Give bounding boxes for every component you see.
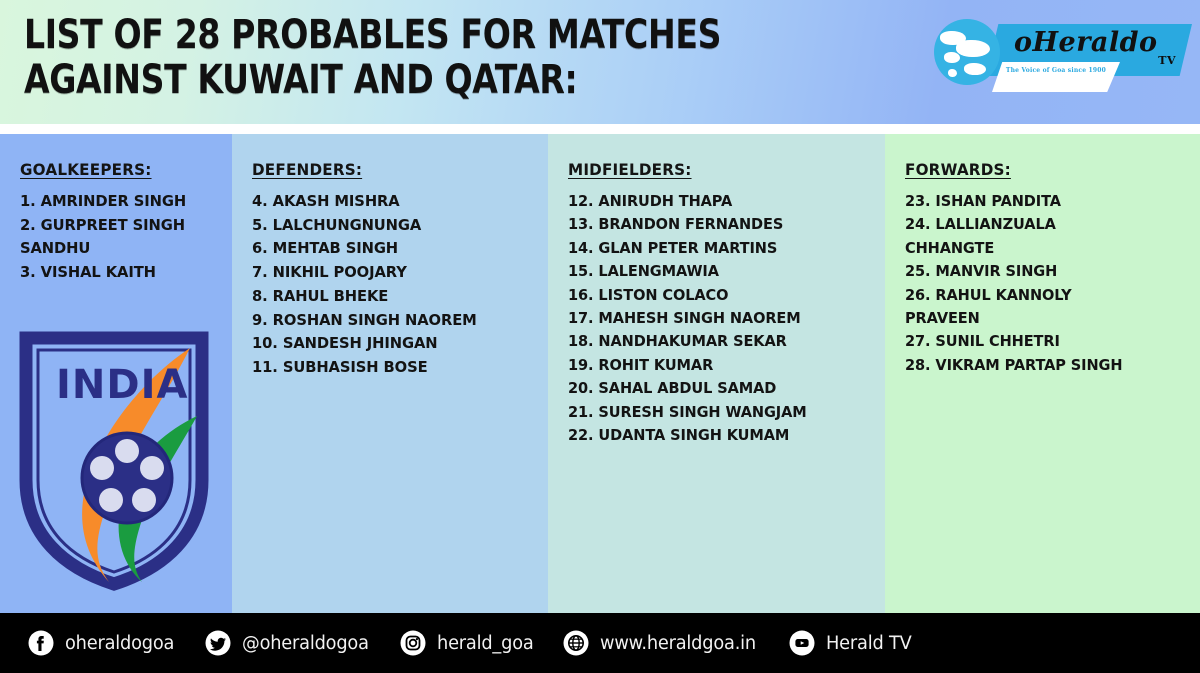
column-title-forwards: FORWARDS: (905, 160, 1170, 179)
india-football-crest: INDIA (14, 330, 214, 592)
facebook-icon[interactable] (28, 630, 54, 656)
oheraldo-tv-logo[interactable]: oHeraldo TV The Voice of Goa since 1900 (930, 12, 1192, 106)
list-item: 11. SUBHASISH BOSE (252, 356, 518, 380)
header-divider (0, 124, 1200, 134)
list-item: 7. NIKHIL POOJARY (252, 261, 518, 285)
footer-website[interactable]: www.heraldgoa.in (563, 630, 762, 656)
player-list-forwards: 23. ISHAN PANDITA 24. LALLIANZUALA CHHAN… (905, 190, 1184, 377)
list-item: SANDHU (20, 237, 206, 261)
player-list-defenders: 4. AKASH MISHRA 5. LALCHUNGNUNGA 6. MEHT… (252, 190, 532, 380)
column-title-midfielders: MIDFIELDERS: (568, 160, 854, 179)
footer-twitter[interactable]: @oheraldogoa (205, 630, 374, 656)
footer-social-bar: oheraldogoa @oheraldogoa herald_goa (0, 613, 1200, 673)
column-midfielders: MIDFIELDERS: 12. ANIRUDH THAPA 13. BRAND… (548, 134, 885, 613)
footer-twitter-label: @oheraldogoa (242, 633, 369, 654)
footer-facebook[interactable]: oheraldogoa (28, 630, 179, 656)
list-item: 28. VIKRAM PARTAP SINGH (905, 354, 1170, 377)
page-title-line-1: LIST OF 28 PROBABLES FOR MATCHES (24, 13, 834, 58)
player-list-goalkeepers: 1. AMRINDER SINGH 2. GURPREET SINGH SAND… (20, 190, 216, 285)
list-item: 27. SUNIL CHHETRI (905, 330, 1170, 353)
list-item: 15. LALENGMAWIA (568, 260, 854, 283)
list-item: 22. UDANTA SINGH KUMAM (568, 424, 854, 447)
infographic-root: LIST OF 28 PROBABLES FOR MATCHES AGAINST… (0, 0, 1200, 673)
list-item: PRAVEEN (905, 307, 1170, 330)
player-list-midfielders: 12. ANIRUDH THAPA 13. BRANDON FERNANDES … (568, 190, 869, 447)
column-title-goalkeepers: GOALKEEPERS: (20, 160, 206, 179)
instagram-icon[interactable] (400, 630, 426, 656)
column-defenders: DEFENDERS: 4. AKASH MISHRA 5. LALCHUNGNU… (232, 134, 548, 613)
page-title: LIST OF 28 PROBABLES FOR MATCHES AGAINST… (24, 13, 834, 103)
list-item: 19. ROHIT KUMAR (568, 354, 854, 377)
list-item: 8. RAHUL BHEKE (252, 285, 518, 309)
list-item: 13. BRANDON FERNANDES (568, 213, 854, 236)
logo-wordmark: oHeraldo (1014, 23, 1174, 63)
footer-youtube-label: Herald TV (826, 633, 912, 654)
list-item: 6. MEHTAB SINGH (252, 237, 518, 261)
footer-facebook-label: oheraldogoa (65, 633, 174, 654)
footer-instagram[interactable]: herald_goa (400, 630, 538, 656)
list-item: 4. AKASH MISHRA (252, 190, 518, 214)
column-goalkeepers: GOALKEEPERS: 1. AMRINDER SINGH 2. GURPRE… (0, 134, 232, 613)
page-title-line-2: AGAINST KUWAIT AND QATAR: (24, 58, 834, 103)
list-item: 10. SANDESH JHINGAN (252, 332, 518, 356)
crest-text: INDIA (56, 362, 188, 408)
list-item: 9. ROSHAN SINGH NAOREM (252, 309, 518, 333)
list-item: 24. LALLIANZUALA (905, 213, 1170, 236)
list-item: 17. MAHESH SINGH NAOREM (568, 307, 854, 330)
header-banner: LIST OF 28 PROBABLES FOR MATCHES AGAINST… (0, 0, 1200, 124)
footer-youtube[interactable]: Herald TV (789, 630, 915, 656)
list-item: CHHANGTE (905, 237, 1170, 260)
column-title-defenders: DEFENDERS: (252, 160, 518, 179)
logo-tv-label: TV (1158, 54, 1176, 67)
list-item: 25. MANVIR SINGH (905, 260, 1170, 283)
list-item: 26. RAHUL KANNOLY (905, 284, 1170, 307)
footer-website-label: www.heraldgoa.in (600, 633, 756, 654)
list-item: 2. GURPREET SINGH (20, 214, 206, 238)
players-columns: GOALKEEPERS: 1. AMRINDER SINGH 2. GURPRE… (0, 134, 1200, 613)
list-item: 20. SAHAL ABDUL SAMAD (568, 377, 854, 400)
twitter-icon[interactable] (205, 630, 231, 656)
list-item: 14. GLAN PETER MARTINS (568, 237, 854, 260)
list-item: 1. AMRINDER SINGH (20, 190, 206, 214)
column-forwards: FORWARDS: 23. ISHAN PANDITA 24. LALLIANZ… (885, 134, 1200, 613)
list-item: 5. LALCHUNGNUNGA (252, 214, 518, 238)
youtube-icon[interactable] (789, 630, 815, 656)
logo-tagline: The Voice of Goa since 1900 (992, 62, 1120, 76)
list-item: 23. ISHAN PANDITA (905, 190, 1170, 213)
list-item: 12. ANIRUDH THAPA (568, 190, 854, 213)
globe-icon (934, 19, 1000, 85)
list-item: 21. SURESH SINGH WANGJAM (568, 401, 854, 424)
list-item: 3. VISHAL KAITH (20, 261, 206, 285)
list-item: 16. LISTON COLACO (568, 284, 854, 307)
globe-icon[interactable] (563, 630, 589, 656)
logo-tagline-ribbon: The Voice of Goa since 1900 (992, 62, 1120, 92)
list-item: 18. NANDHAKUMAR SEKAR (568, 330, 854, 353)
footer-instagram-label: herald_goa (437, 633, 534, 654)
